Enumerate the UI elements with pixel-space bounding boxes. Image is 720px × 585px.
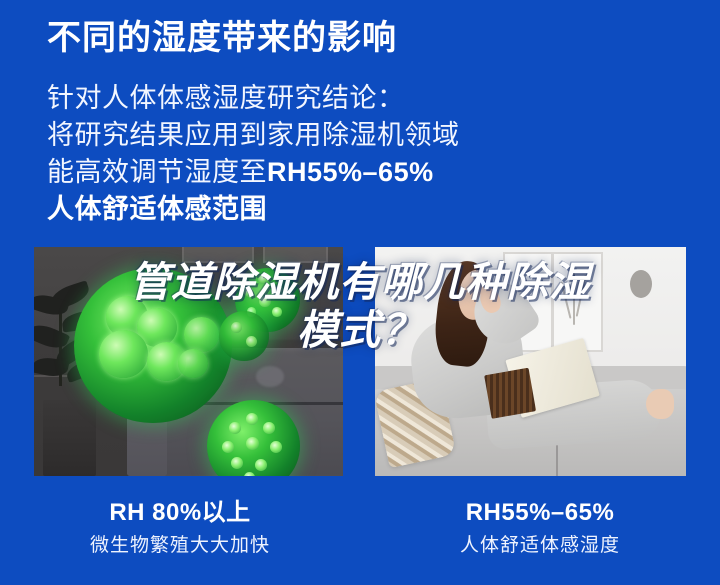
microbe-nub (229, 422, 241, 434)
microbe-nub (246, 437, 259, 450)
microbe-cluster-icon (74, 268, 232, 424)
microbe-nub (270, 441, 282, 453)
microbe-nub (274, 286, 284, 296)
woman-foot (646, 389, 674, 419)
microbe-cell (99, 330, 148, 378)
caption-left: RH 80%以上 微生物繁殖大大加快 (0, 498, 360, 578)
microbe-nub (246, 413, 258, 425)
photo-panels (0, 247, 720, 476)
microbe-nub (263, 422, 275, 434)
panel-right-comfort-humidity (375, 247, 686, 476)
woman-reading (375, 247, 686, 476)
microbe-nub (246, 336, 257, 347)
body-line-3-prefix: 能高效调节湿度至 (47, 157, 267, 187)
panel-captions: RH 80%以上 微生物繁殖大大加快 RH55%–65% 人体舒适体感湿度 (0, 498, 720, 578)
microbe-nub (244, 472, 255, 476)
body-line-3: 能高效调节湿度至RH55%–65% (47, 154, 517, 191)
caption-right-title: RH55%–65% (360, 498, 720, 528)
microbe-nub (244, 287, 254, 297)
wall-frame-icon (263, 247, 329, 263)
panel-left-high-humidity (34, 247, 343, 476)
caption-right: RH55%–65% 人体舒适体感湿度 (360, 498, 720, 578)
microbe-nub (259, 296, 271, 308)
microbe-edge-icon (219, 311, 268, 361)
body-line-1: 针对人体体感湿度研究结论： (47, 80, 517, 117)
microbe-nub (255, 459, 267, 471)
body-line-3-value: RH55%–65% (267, 157, 434, 187)
wall-frame-icon (182, 247, 254, 263)
microbe-cell (178, 349, 208, 379)
light-room-photo (375, 247, 686, 476)
body-line-2: 将研究结果应用到家用除湿机领域 (47, 117, 517, 154)
microbe-nub (231, 457, 243, 469)
microbe-nub (258, 274, 268, 284)
microbe-nub (231, 322, 242, 333)
humidity-infographic-poster: 不同的湿度带来的影响 针对人体体感湿度研究结论： 将研究结果应用到家用除湿机领域… (0, 0, 720, 585)
page-title: 不同的湿度带来的影响 (47, 17, 397, 60)
caption-left-subtitle: 微生物繁殖大大加快 (0, 533, 360, 559)
caption-left-title: RH 80%以上 (0, 498, 360, 528)
body-line-4: 人体舒适体感范围 (47, 191, 517, 228)
microbe-nub (222, 441, 234, 453)
dark-room-photo (34, 247, 343, 476)
microbe-nub (272, 307, 282, 317)
microbe-cell (184, 317, 219, 351)
caption-right-subtitle: 人体舒适体感湿度 (360, 533, 720, 559)
sofa-cushion-lump (256, 366, 284, 387)
body-paragraph: 针对人体体感湿度研究结论： 将研究结果应用到家用除湿机领域 能高效调节湿度至RH… (47, 80, 517, 228)
